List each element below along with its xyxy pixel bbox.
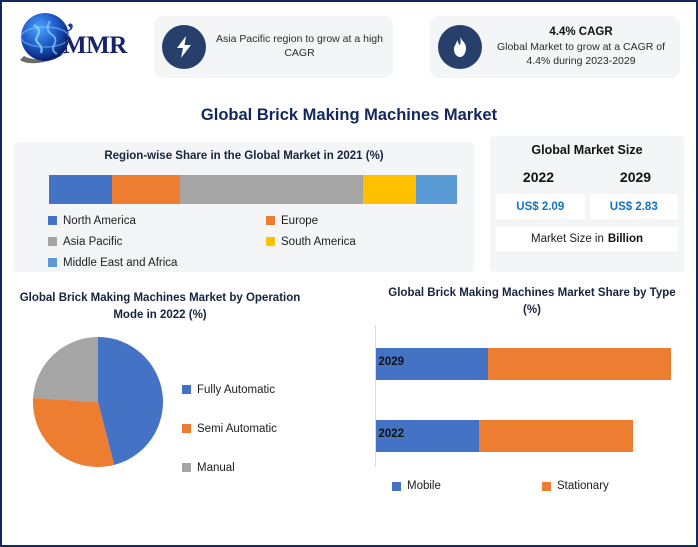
legend-swatch-icon <box>48 237 57 246</box>
legend-item: North America <box>48 210 266 231</box>
region-segment-middle-east-and-africa <box>416 175 457 204</box>
operation-mode-pie-chart: Global Brick Making Machines Market by O… <box>10 290 340 510</box>
badge-subtext: Global Market to grow at a CAGR of 4.4% … <box>497 41 665 67</box>
legend-item: Stationary <box>542 480 609 492</box>
pie-chart-title: Global Brick Making Machines Market by O… <box>10 290 310 323</box>
pie-slice-manual <box>33 337 98 402</box>
header-badge-cagr: 4.4% CAGR Global Market to grow at a CAG… <box>430 16 680 78</box>
region-segment-asia-pacific <box>180 175 364 204</box>
legend-label: Fully Automatic <box>197 384 275 396</box>
type-share-bar-chart: Global Brick Making Machines Market Shar… <box>342 285 694 513</box>
bar-row: 2022 <box>376 420 633 452</box>
legend-label: Semi Automatic <box>197 423 277 435</box>
legend-item: Semi Automatic <box>182 409 332 448</box>
legend-item: Manual <box>182 448 332 487</box>
lightning-bolt-icon <box>162 25 206 69</box>
infographic-canvas: ’ MMR Asia Pacific region to grow at a h… <box>0 0 698 547</box>
year-label-left: 2022 <box>490 169 587 185</box>
legend-item: Europe <box>266 210 466 231</box>
bar-segment-stationary <box>479 420 632 452</box>
unit-prefix: Market Size in <box>531 233 604 245</box>
legend-item: Mobile <box>392 480 542 492</box>
legend-swatch-icon <box>48 216 57 225</box>
legend-item: Middle East and Africa <box>48 252 266 273</box>
header-badge-asia-pacific: Asia Pacific region to grow at a high CA… <box>154 16 393 78</box>
legend-label: South America <box>281 236 356 248</box>
region-segment-europe <box>112 175 179 204</box>
region-chart-title: Region-wise Share in the Global Market i… <box>14 150 474 162</box>
legend-swatch-icon <box>266 237 275 246</box>
region-segment-north-america <box>49 175 112 204</box>
global-market-size-panel: Global Market Size 2022 2029 US$ 2.09 US… <box>490 136 684 272</box>
legend-label: Manual <box>197 462 235 474</box>
legend-swatch-icon <box>182 385 191 394</box>
pie-graphic <box>32 336 164 468</box>
market-value-2022: US$ 2.09 <box>496 194 585 219</box>
legend-label: Middle East and Africa <box>63 257 177 269</box>
region-legend: North AmericaEuropeAsia PacificSouth Ame… <box>48 210 468 273</box>
legend-item: Asia Pacific <box>48 231 266 252</box>
region-share-chart: Region-wise Share in the Global Market i… <box>14 142 474 272</box>
badge-text: 4.4% CAGR Global Market to grow at a CAG… <box>482 25 680 69</box>
bar-category-label: 2029 <box>356 356 404 368</box>
legend-swatch-icon <box>48 258 57 267</box>
market-size-unit: Market Size in Billion <box>496 227 678 251</box>
legend-item: South America <box>266 231 466 252</box>
legend-item: Fully Automatic <box>182 370 332 409</box>
logo-text: MMR <box>63 32 127 60</box>
legend-label: Europe <box>281 215 318 227</box>
badge-headline: 4.4% CAGR <box>488 25 674 40</box>
market-size-values: US$ 2.09 US$ 2.83 <box>496 194 678 219</box>
market-value-2029: US$ 2.83 <box>590 194 679 219</box>
bar-category-label: 2022 <box>356 428 404 440</box>
legend-swatch-icon <box>542 482 551 491</box>
bar-row: 2029 <box>376 348 671 380</box>
unit-value: Billion <box>608 233 643 245</box>
flame-icon <box>438 25 482 69</box>
header: ’ MMR Asia Pacific region to grow at a h… <box>2 2 696 92</box>
bar-segment-stationary <box>488 348 671 380</box>
mmr-logo: ’ MMR <box>18 10 144 66</box>
legend-label: Asia Pacific <box>63 236 122 248</box>
year-label-right: 2029 <box>587 169 684 185</box>
lightning-bolt-glyph <box>173 35 195 59</box>
legend-label: Stationary <box>557 480 609 492</box>
legend-swatch-icon <box>392 482 401 491</box>
pie-legend: Fully AutomaticSemi AutomaticManual <box>182 370 332 487</box>
page-title: Global Brick Making Machines Market <box>2 106 696 125</box>
market-size-title: Global Market Size <box>490 143 684 157</box>
legend-swatch-icon <box>182 463 191 472</box>
badge-text: Asia Pacific region to grow at a high CA… <box>206 33 393 61</box>
market-size-years: 2022 2029 <box>490 169 684 185</box>
legend-label: North America <box>63 215 136 227</box>
legend-swatch-icon <box>182 424 191 433</box>
type-legend: MobileStationary <box>392 480 672 492</box>
region-segment-south-america <box>363 175 416 204</box>
region-stacked-bar <box>49 175 457 204</box>
type-chart-title: Global Brick Making Machines Market Shar… <box>382 285 682 318</box>
legend-swatch-icon <box>266 216 275 225</box>
flame-glyph <box>449 35 471 59</box>
legend-label: Mobile <box>407 480 441 492</box>
